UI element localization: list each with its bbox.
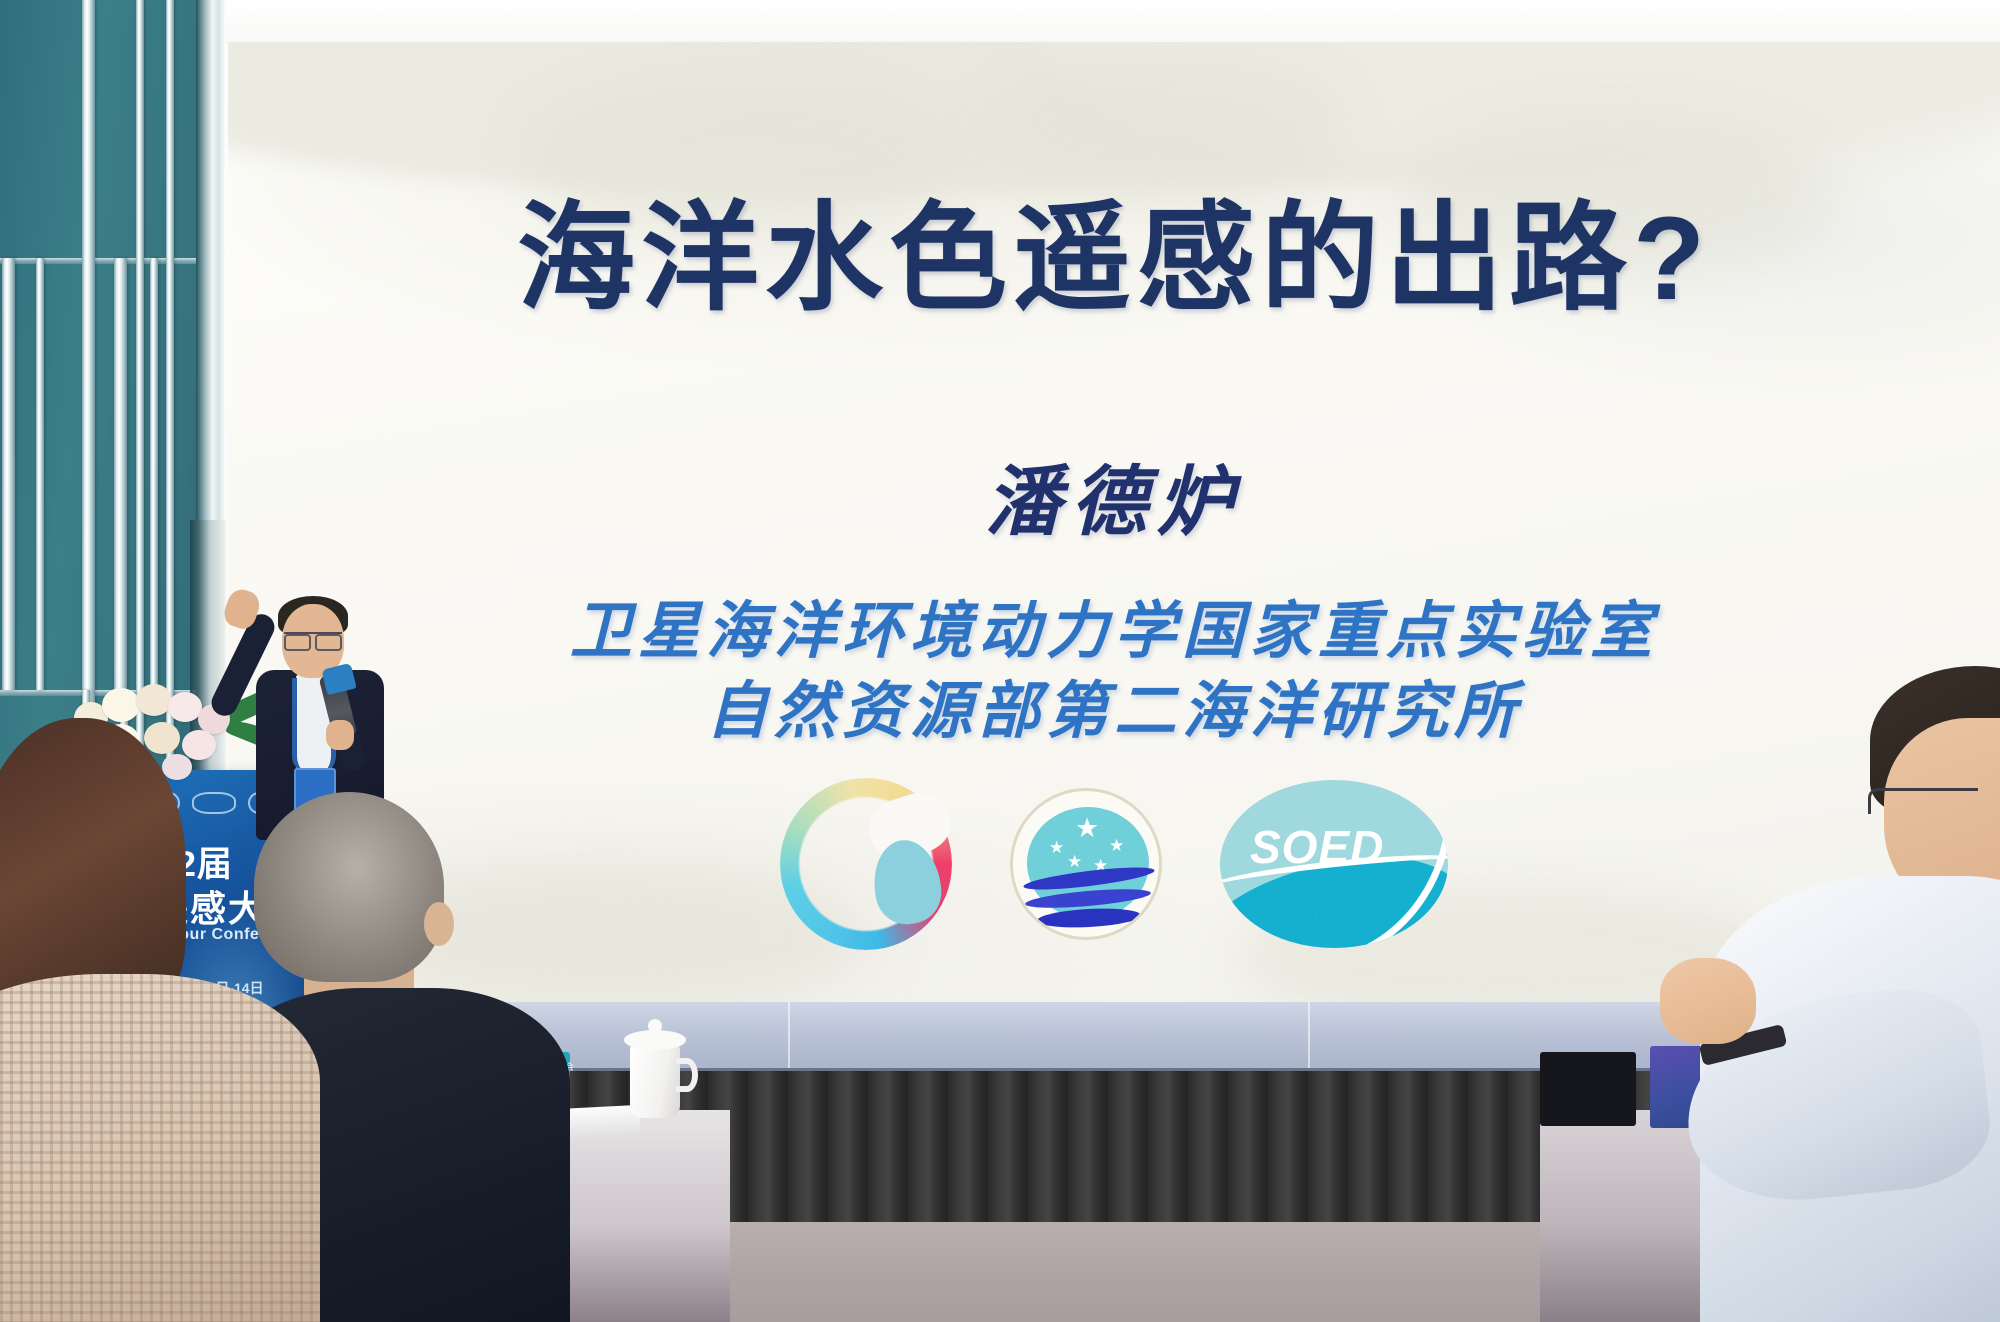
speaker-glasses-icon — [284, 632, 342, 645]
audience-man-ear — [424, 902, 454, 946]
soed-logo-text: SOED — [1250, 820, 1384, 874]
slide-title: 海洋水色遥感的出路? — [228, 162, 2000, 333]
dark-monitor — [1540, 1052, 1636, 1126]
ocean-colour-swirl-logo — [780, 778, 952, 950]
ocean-emblem-logo: ★ ★ ★ ★ ★ — [1010, 788, 1162, 940]
audience-woman-checkered-blazer — [0, 974, 320, 1322]
conference-photo-scene: 海洋水色遥感的出路? 潘德炉 卫星海洋环境动力学国家重点实验室 自然资源部第二海… — [0, 0, 2000, 1322]
teacup-lid — [624, 1030, 686, 1050]
ceiling-strip — [215, 0, 2000, 44]
soed-logo: SOED — [1220, 780, 1448, 948]
audience-right-glasses-icon — [1868, 788, 1978, 814]
teacup — [630, 1042, 680, 1118]
audience-woman-foreground-left — [0, 718, 290, 1322]
teacup-knob — [648, 1019, 662, 1033]
audience-right-hand — [1660, 958, 1756, 1044]
teacup-handle — [676, 1058, 698, 1092]
speaker-mic-hand — [326, 720, 354, 750]
slide-affiliation-line-1: 卫星海洋环境动力学国家重点实验室 — [228, 580, 2000, 670]
audience-man-foreground-right — [1672, 666, 2000, 1322]
slide-author: 潘德炉 — [228, 440, 2000, 550]
